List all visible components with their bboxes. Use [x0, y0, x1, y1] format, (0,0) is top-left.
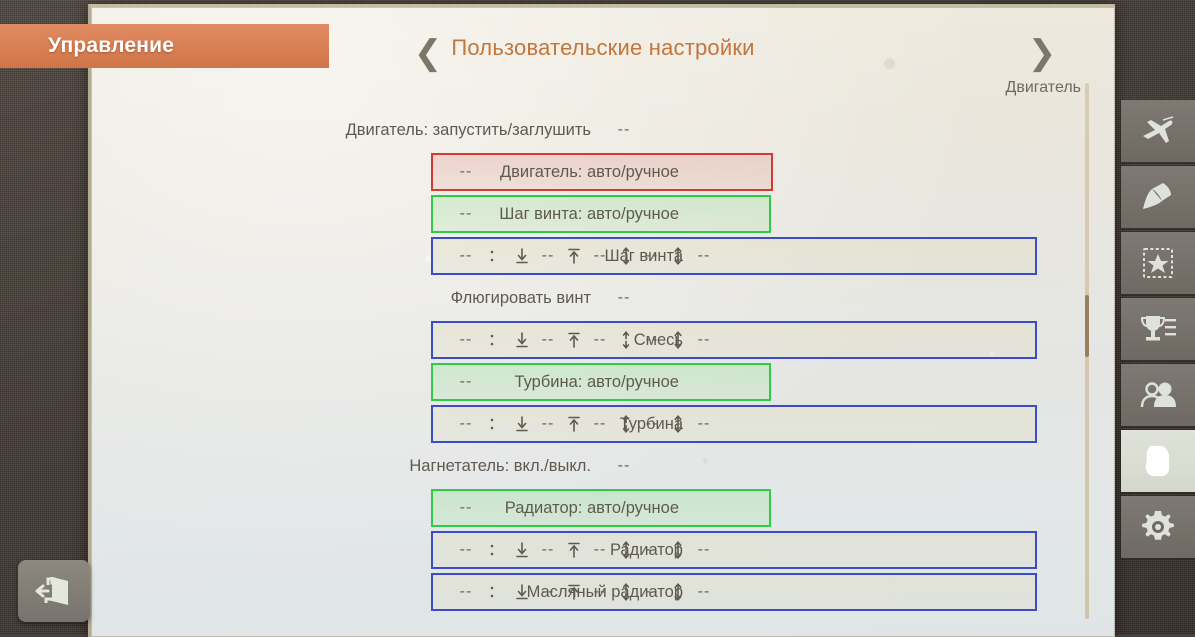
binding-row[interactable]: Флюгировать винт--: [91, 279, 773, 317]
binding-value[interactable]: --: [693, 415, 715, 433]
binding-values: --: [613, 289, 635, 307]
sidebar-item-trophy-list[interactable]: [1121, 298, 1195, 360]
binding-label: Смесь: [433, 331, 683, 350]
binding-label: Радиатор: [433, 541, 683, 560]
sidebar-item-paintbrush[interactable]: [1121, 166, 1195, 228]
scrollbar-thumb[interactable]: [1085, 295, 1089, 357]
binding-label: Двигатель: авто/ручное: [433, 163, 679, 182]
section-label: Двигатель: [1006, 79, 1082, 97]
sidebar-item-airplane[interactable]: [1121, 100, 1195, 162]
binding-value[interactable]: --: [613, 121, 635, 139]
binding-value[interactable]: --: [693, 583, 715, 601]
binding-values: --: [613, 457, 635, 475]
gear-icon: [1140, 509, 1176, 545]
binding-row[interactable]: Смесь----------: [431, 321, 1037, 359]
paintbrush-icon: [1140, 180, 1176, 214]
controls-hand-icon: [1141, 443, 1175, 479]
sidebar-item-crew-people[interactable]: [1121, 364, 1195, 426]
bindings-list: Двигатель: запустить/заглушить--Двигател…: [91, 111, 1115, 615]
binding-row[interactable]: Двигатель: авто/ручное--: [431, 153, 773, 191]
binding-row[interactable]: Шаг винта----------: [431, 237, 1037, 275]
trophy-list-icon: [1138, 312, 1178, 346]
binding-label: Радиатор: авто/ручное: [433, 499, 679, 518]
binding-row[interactable]: Радиатор----------: [431, 531, 1037, 569]
binding-row[interactable]: Масляный радиатор----------: [431, 573, 1037, 611]
decal-star-icon: [1140, 246, 1176, 280]
binding-values: --: [613, 121, 635, 139]
binding-row[interactable]: Турбина: авто/ручное--: [431, 363, 771, 401]
sidebar-item-decal-star[interactable]: [1121, 232, 1195, 294]
binding-label: Масляный радиатор: [433, 583, 683, 602]
binding-label: Шаг винта: [433, 247, 683, 266]
binding-row[interactable]: Радиатор: авто/ручное--: [431, 489, 771, 527]
section-tab-label: Управление: [48, 34, 174, 58]
binding-value[interactable]: --: [613, 289, 635, 307]
chevron-right-icon[interactable]: ❯: [1021, 31, 1063, 75]
binding-label: Двигатель: запустить/заглушить: [91, 121, 591, 140]
binding-label: Турбина: авто/ручное: [433, 373, 679, 392]
binding-value[interactable]: --: [693, 247, 715, 265]
binding-label: Нагнетатель: вкл./выкл.: [91, 457, 591, 476]
binding-value[interactable]: --: [693, 541, 715, 559]
sidebar-item-controls-hand[interactable]: [1121, 430, 1195, 492]
airplane-icon: [1139, 114, 1177, 148]
binding-row[interactable]: Двигатель: запустить/заглушить--: [91, 111, 773, 149]
binding-label: Турбина: [433, 415, 683, 434]
exit-door-icon: [34, 573, 74, 609]
binding-row[interactable]: Турбина----------: [431, 405, 1037, 443]
binding-row[interactable]: Шаг винта: авто/ручное--: [431, 195, 771, 233]
exit-button[interactable]: [18, 560, 90, 622]
settings-panel: ❮ Пользовательские настройки ❯ Двигатель…: [88, 4, 1115, 637]
scrollbar-track[interactable]: [1085, 83, 1089, 619]
sidebar-item-gear[interactable]: [1121, 496, 1195, 558]
binding-value[interactable]: --: [693, 331, 715, 349]
binding-label: Флюгировать винт: [91, 289, 591, 308]
binding-row[interactable]: Нагнетатель: вкл./выкл.--: [91, 447, 773, 485]
right-icon-sidebar: [1121, 100, 1195, 562]
section-tab-controls[interactable]: Управление: [0, 24, 329, 68]
binding-value[interactable]: --: [613, 457, 635, 475]
crew-people-icon: [1138, 378, 1178, 412]
binding-label: Шаг винта: авто/ручное: [433, 205, 679, 224]
